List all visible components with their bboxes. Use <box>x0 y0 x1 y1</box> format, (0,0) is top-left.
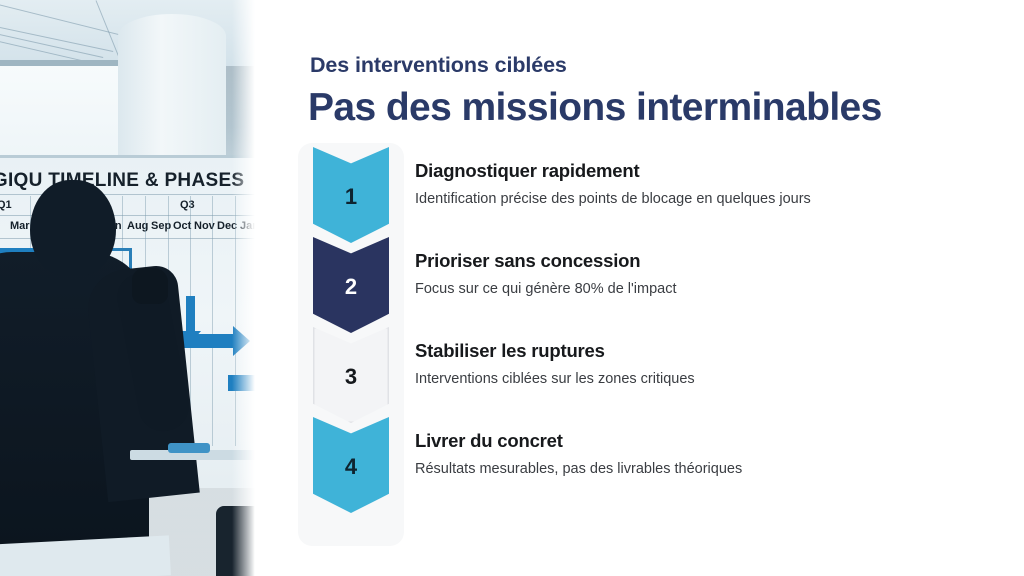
step-text-block: Diagnostiquer rapidement Identification … <box>389 143 986 208</box>
slide: TÉGIQU TIMELINE & PHASES Q1 Q3 Mar Jun A… <box>0 0 1024 576</box>
step-title: Diagnostiquer rapidement <box>415 161 986 181</box>
page-title: Pas des missions interminables <box>308 88 882 129</box>
step-chevron-2: 2 <box>313 237 389 333</box>
step-number: 3 <box>345 366 357 388</box>
person-silhouette-head <box>30 180 116 276</box>
step-description: Résultats mesurables, pas des livrables … <box>415 460 986 478</box>
board-column-line <box>212 196 213 446</box>
photo-edge-fade <box>232 0 258 576</box>
person-silhouette-hand <box>132 268 168 304</box>
whiteboard-title: TÉGIQU TIMELINE & PHASES <box>0 170 258 192</box>
step-number: 2 <box>345 276 357 298</box>
step-number: 1 <box>345 186 357 208</box>
step-title: Livrer du concret <box>415 431 986 451</box>
step-title: Stabiliser les ruptures <box>415 341 986 361</box>
whiteboard-month-label: Oct <box>173 220 191 232</box>
photo-pillar <box>118 14 226 162</box>
step-chevron-1: 1 <box>313 147 389 243</box>
step-text-block: Livrer du concret Résultats mesurables, … <box>389 413 986 478</box>
board-rule <box>0 194 258 195</box>
photo-projector-screen <box>0 60 118 161</box>
step-text-block: Stabiliser les ruptures Interventions ci… <box>389 323 986 388</box>
step-text-block: Prioriser sans concession Focus sur ce q… <box>389 233 986 298</box>
gantt-down-arrow <box>186 296 195 332</box>
whiteboard-quarter-label: Q3 <box>180 199 195 211</box>
list-item[interactable]: 1 Diagnostiquer rapidement Identificatio… <box>286 143 986 233</box>
step-chevron-4: 4 <box>313 417 389 513</box>
step-description: Focus sur ce qui génère 80% de l'impact <box>415 280 986 298</box>
content-panel: Des interventions ciblées Pas des missio… <box>258 0 1024 576</box>
list-item[interactable]: 2 Prioriser sans concession Focus sur ce… <box>286 233 986 323</box>
whiteboard-month-label: Mar <box>10 220 30 232</box>
whiteboard-quarter-label: Q1 <box>0 199 12 211</box>
steps-list: 1 Diagnostiquer rapidement Identificatio… <box>286 143 986 503</box>
eyebrow-heading: Des interventions ciblées <box>310 53 567 78</box>
hero-photo: TÉGIQU TIMELINE & PHASES Q1 Q3 Mar Jun A… <box>0 0 258 576</box>
step-title: Prioriser sans concession <box>415 251 986 271</box>
step-description: Identification précise des points de blo… <box>415 190 986 208</box>
step-number: 4 <box>345 456 357 478</box>
whiteboard-marker <box>168 443 210 453</box>
step-chevron-3: 3 <box>313 327 389 423</box>
step-description: Interventions ciblées sur les zones crit… <box>415 370 986 388</box>
list-item[interactable]: 4 Livrer du concret Résultats mesurables… <box>286 413 986 503</box>
list-item[interactable]: 3 Stabiliser les ruptures Interventions … <box>286 323 986 413</box>
